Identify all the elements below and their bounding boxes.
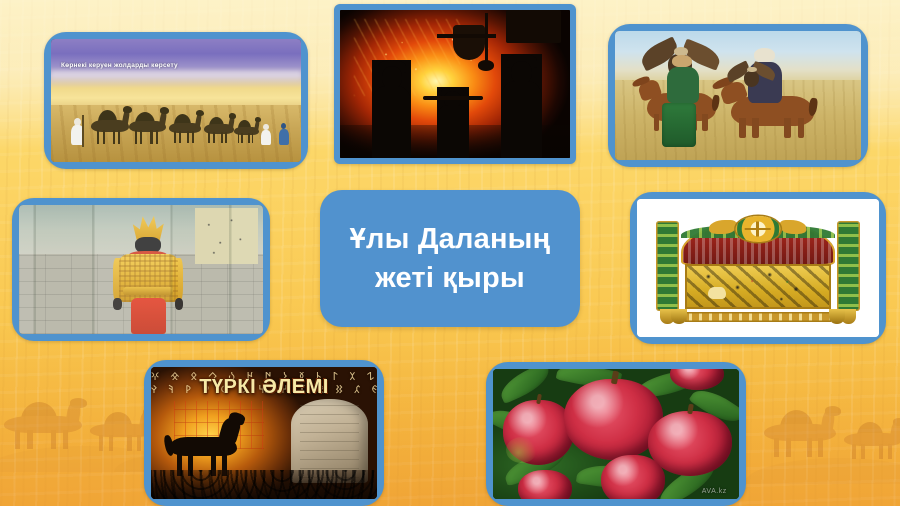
sun-medallion — [736, 216, 781, 242]
page-title: Ұлы Даланың жеті қыры — [342, 220, 559, 297]
metallurgy-photo — [340, 10, 570, 158]
griffin-figure — [780, 220, 806, 234]
turkic-world-frame[interactable]: 𐰀 𐰁 𐰂 𐰃 𐰄 𐰅 𐰆 𐰇 𐰈 𐰉 𐰊 𐰋 𐰌 𐰍 𐰎 𐰏 𐰐 𐰑 𐰒 𐰓 … — [144, 360, 384, 506]
title-card: Ұлы Даланың жеті қыры — [320, 190, 580, 327]
camel-silhouette — [844, 420, 900, 458]
golden-ornament-frame[interactable] — [630, 192, 886, 344]
caravan-figure — [279, 123, 289, 145]
apple — [601, 455, 665, 499]
crane-cable — [485, 13, 488, 63]
image-watermark: AVA.kz — [702, 488, 727, 495]
ornament-animal-field — [685, 264, 831, 309]
camel-silhouette — [4, 400, 82, 448]
camel-silhouette — [90, 410, 152, 450]
caravan-camel — [234, 120, 259, 142]
background-caravan-right — [760, 398, 900, 484]
reflection-band — [151, 470, 377, 499]
worker-outstretched-arm — [423, 96, 483, 100]
apple — [518, 470, 572, 499]
background-glow-bottom — [0, 316, 900, 506]
camel-caravan-photo: Көрнекі керуен жолдарды көрсету — [51, 39, 301, 162]
apples-frame[interactable]: AVA.kz — [486, 362, 746, 506]
ornament-tassel — [671, 309, 687, 324]
ornament-side-band — [656, 221, 678, 311]
caravan-caption: Көрнекі керуен жолдарды көрсету — [51, 61, 301, 70]
title-line-1: Ұлы Даланың — [350, 223, 551, 255]
golden-man-frame[interactable] — [12, 198, 270, 341]
golden-eagle — [731, 65, 773, 93]
leaf — [496, 369, 554, 404]
turkic-world-photo: 𐰀 𐰁 𐰂 𐰃 𐰄 𐰅 𐰆 𐰇 𐰈 𐰉 𐰊 𐰋 𐰌 𐰍 𐰎 𐰏 𐰐 𐰑 𐰒 𐰓 … — [151, 367, 377, 499]
eagle-hunters-frame[interactable] — [608, 24, 868, 167]
eagle-hunter-rider — [667, 67, 699, 103]
eagle-hunters-photo — [615, 31, 861, 160]
deer-figure — [708, 287, 726, 299]
foundry-worker — [501, 54, 542, 158]
ladle — [453, 25, 485, 61]
apples-photo: AVA.kz — [493, 369, 739, 499]
crane-hook-head — [478, 60, 494, 70]
caravan-camel — [129, 112, 167, 143]
caravan-camel — [91, 110, 129, 142]
metallurgy-frame[interactable] — [334, 4, 576, 164]
slide-canvas: Көрнекі керуен жолдарды көрсету — [0, 0, 900, 506]
golden-man-photo — [19, 205, 263, 334]
camel-caravan-frame[interactable]: Көрнекі керуен жолдарды көрсету — [44, 32, 308, 169]
overhead-structure — [506, 10, 561, 43]
caravan-camel — [204, 117, 234, 143]
ornament-base-band — [685, 312, 831, 322]
apple — [503, 400, 574, 465]
title-line-2: жеті қыры — [375, 262, 525, 294]
ornament-side-band — [837, 221, 859, 311]
golden-ornament-photo — [637, 199, 879, 337]
turkic-world-title: ТҮРКІ ӘЛЕМІ — [151, 376, 377, 399]
museum-glass-case — [19, 205, 263, 334]
crane-beam — [437, 34, 497, 38]
caravan-camel — [169, 114, 202, 142]
horse-silhouette — [169, 425, 237, 470]
caravan-figure — [261, 124, 271, 145]
camel-silhouette — [764, 408, 836, 456]
saddle-blanket — [662, 103, 696, 147]
foundry-worker — [372, 60, 411, 158]
